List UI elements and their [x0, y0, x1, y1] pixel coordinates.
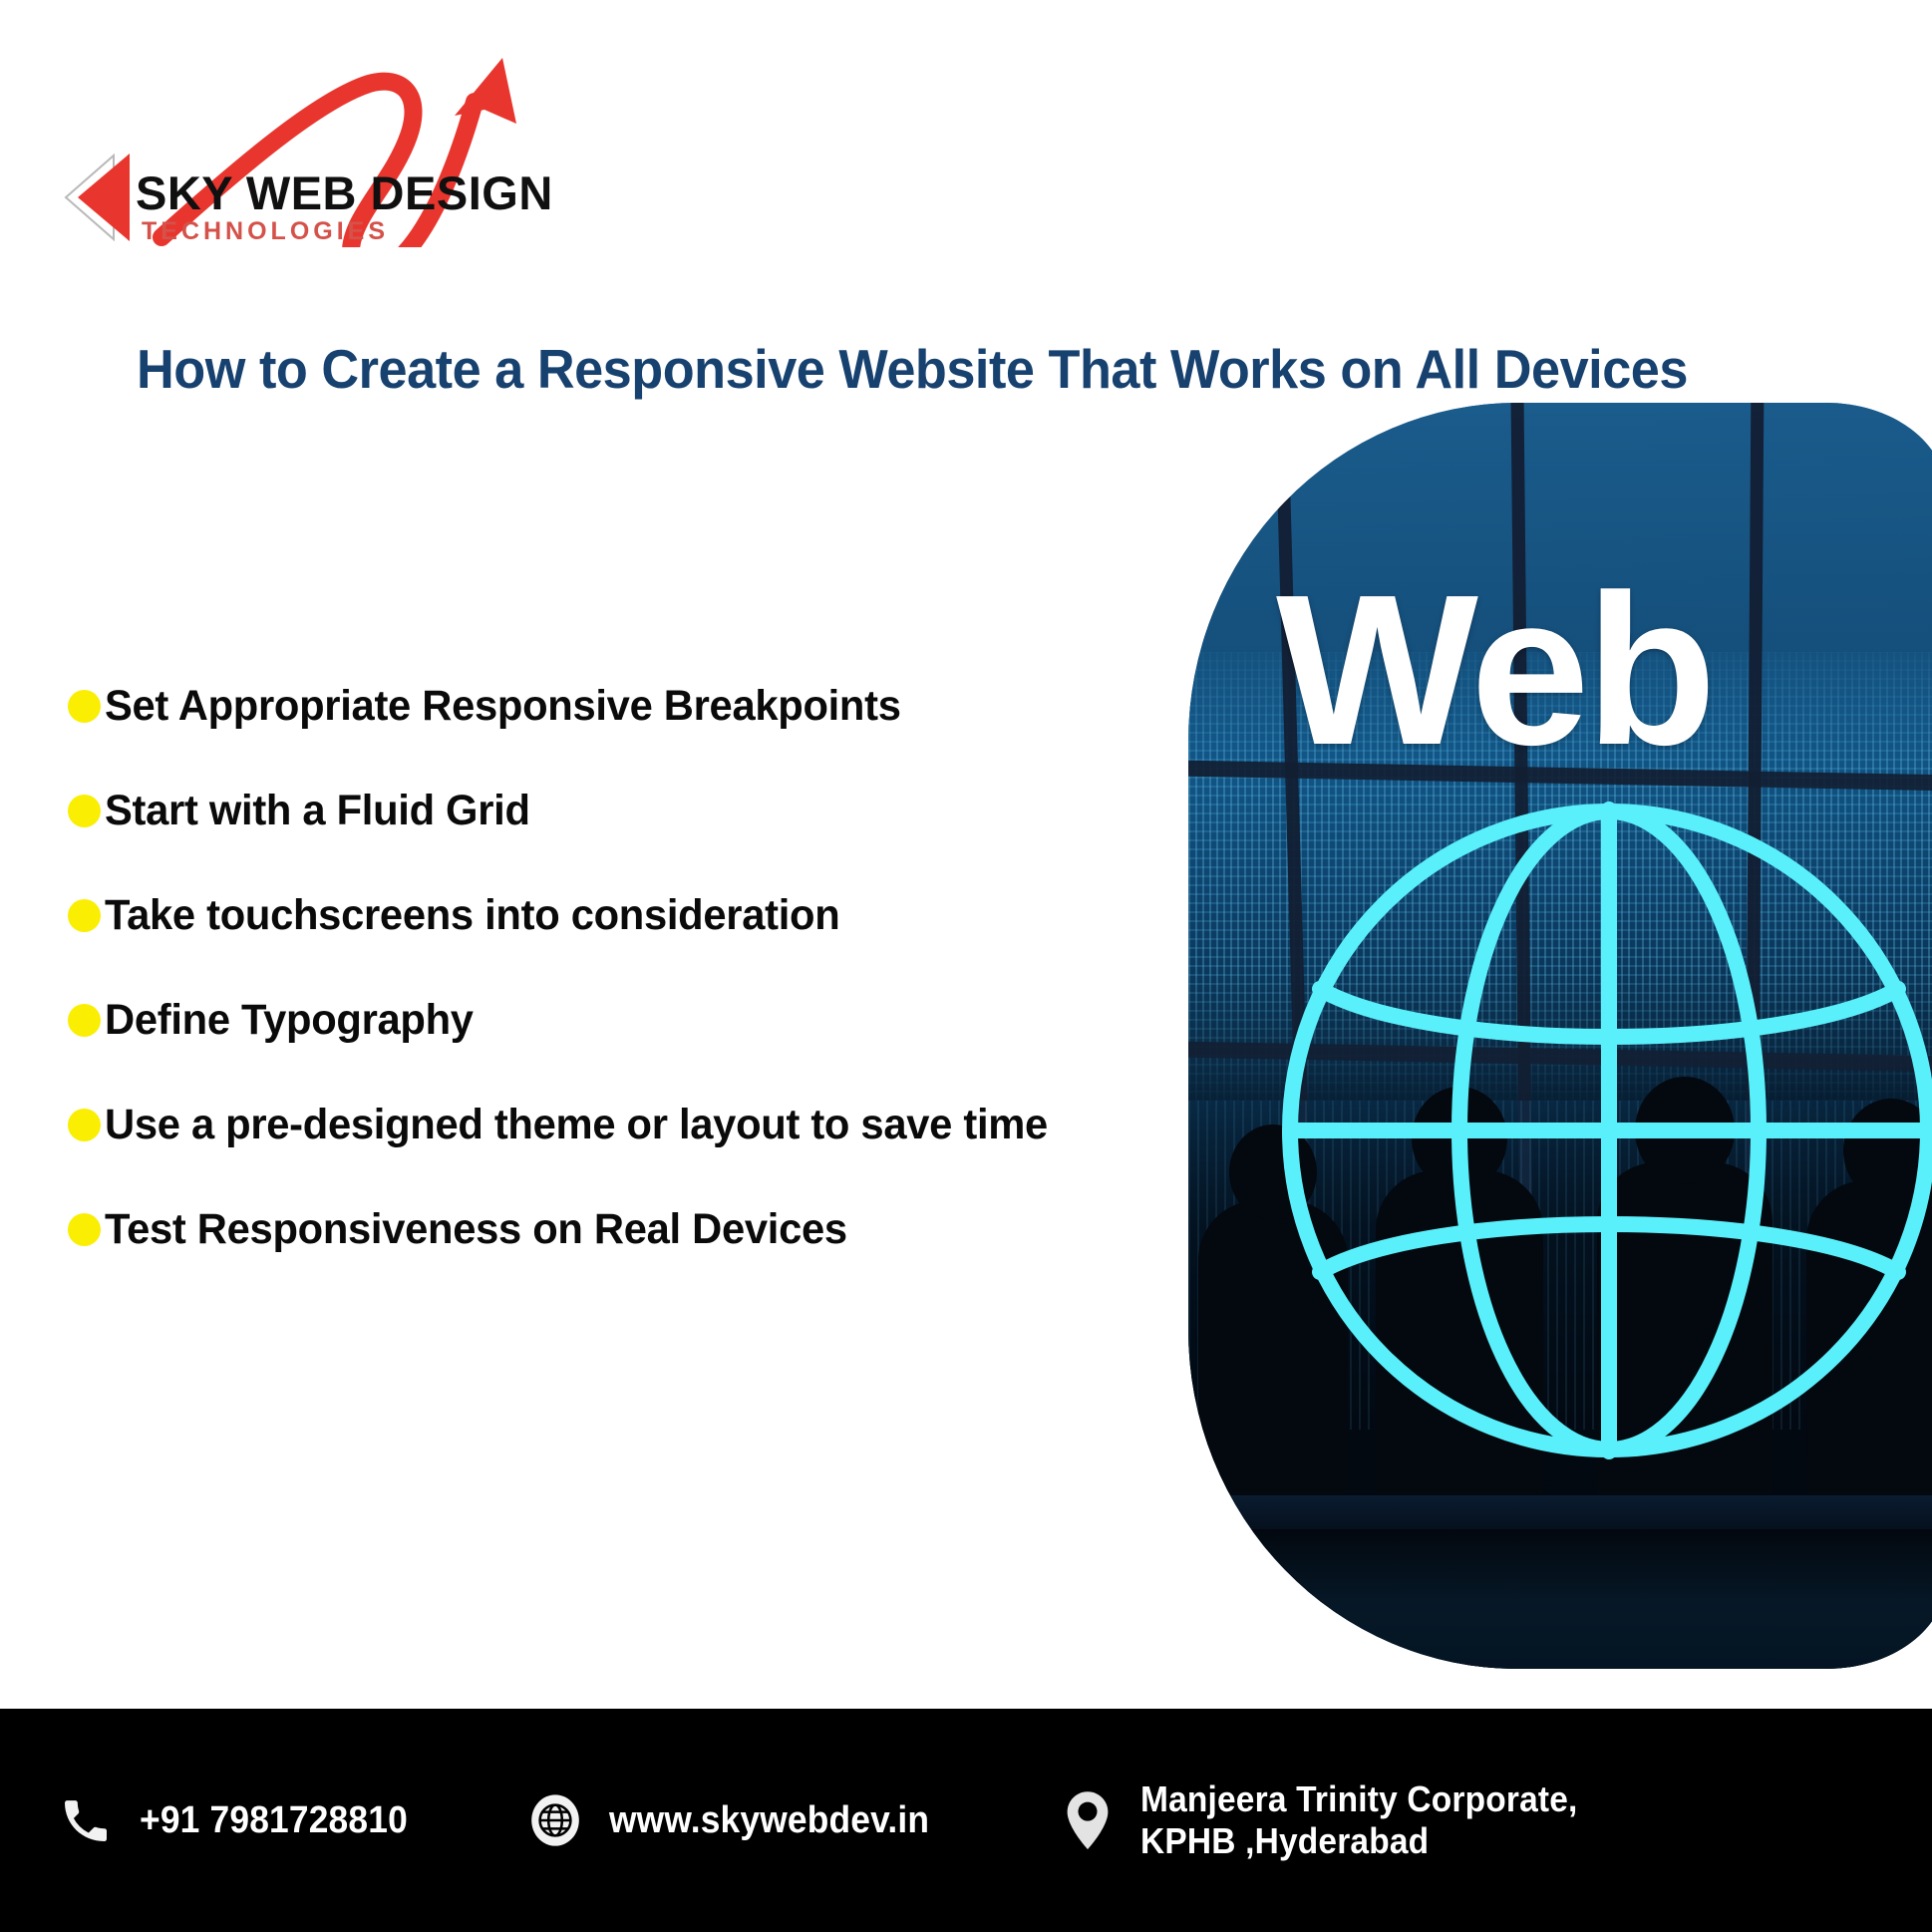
map-pin-icon [1061, 1789, 1115, 1851]
bullet-marker-icon [68, 1213, 101, 1246]
logo-artwork: SKY WEB DESIGN TECHNOLOGIES [52, 48, 570, 247]
logo-arrowhead [455, 58, 516, 124]
floor-reflection [1188, 1529, 1932, 1669]
list-item: Define Typography [68, 984, 1194, 1057]
footer-phone[interactable]: +91 7981728810 [58, 1792, 428, 1848]
list-item-label: Test Responsiveness on Real Devices [105, 1205, 847, 1254]
bullet-marker-icon [68, 1004, 101, 1037]
list-item: Set Appropriate Responsive Breakpoints [68, 670, 1194, 743]
bullet-marker-icon [68, 795, 101, 827]
list-item-label: Define Typography [105, 996, 474, 1045]
hero-image: Web [1188, 403, 1932, 1669]
list-item-label: Take touchscreens into consideration [105, 891, 839, 940]
phone-icon [58, 1792, 114, 1848]
footer-website[interactable]: www.skywebdev.in [527, 1792, 953, 1848]
list-item-label: Set Appropriate Responsive Breakpoints [105, 682, 901, 731]
logo-wordmark: SKY WEB DESIGN [136, 166, 553, 219]
contact-footer: +91 7981728810 www.skywebdev.in [0, 1709, 1932, 1932]
bullet-marker-icon [68, 1109, 101, 1141]
bullet-marker-icon [68, 690, 101, 723]
tips-list: Set Appropriate Responsive Breakpoints S… [68, 670, 1194, 1298]
globe-wireframe-icon [1260, 782, 1932, 1479]
logo-tagline: TECHNOLOGIES [142, 217, 389, 245]
footer-address-line2: KPHB ,Hyderabad [1140, 1820, 1429, 1861]
hero-overlay-text: Web [1276, 562, 1713, 777]
list-item: Use a pre-designed theme or layout to sa… [68, 1089, 1194, 1161]
footer-phone-number: +91 7981728810 [140, 1798, 408, 1843]
footer-address[interactable]: Manjeera Trinity Corporate,KPHB ,Hyderab… [1061, 1778, 1611, 1863]
list-item: Start with a Fluid Grid [68, 775, 1194, 847]
bullet-marker-icon [68, 899, 101, 932]
poster-canvas: SKY WEB DESIGN TECHNOLOGIES How to Creat… [0, 0, 1932, 1932]
footer-address-text: Manjeera Trinity Corporate,KPHB ,Hyderab… [1140, 1778, 1578, 1863]
footer-address-line1: Manjeera Trinity Corporate, [1140, 1778, 1578, 1819]
list-item: Take touchscreens into consideration [68, 879, 1194, 952]
company-logo[interactable]: SKY WEB DESIGN TECHNOLOGIES [52, 48, 570, 247]
list-item-label: Use a pre-designed theme or layout to sa… [105, 1101, 1048, 1149]
page-title: How to Create a Responsive Website That … [46, 341, 1779, 399]
list-item-label: Start with a Fluid Grid [105, 787, 530, 835]
list-item: Test Responsiveness on Real Devices [68, 1193, 1194, 1266]
globe-icon [527, 1792, 583, 1848]
footer-website-url: www.skywebdev.in [609, 1798, 929, 1843]
